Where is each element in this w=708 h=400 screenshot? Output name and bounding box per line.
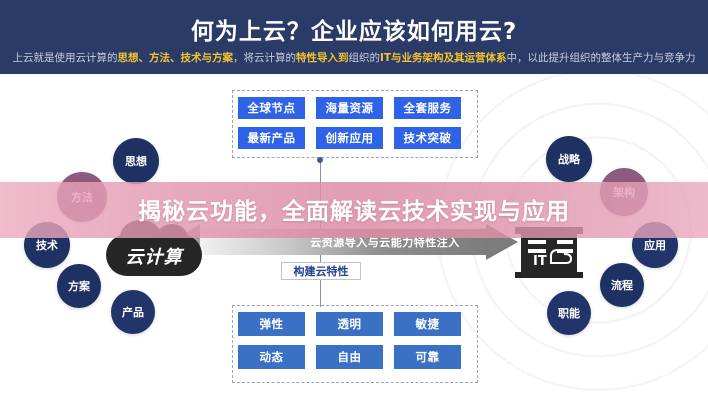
cloud-computing-label: 云计算	[112, 243, 196, 269]
characteristic-tile: 自由	[316, 345, 383, 369]
feature-tile: 全套服务	[394, 97, 461, 119]
subtitle-part-2: ，将云计算的	[233, 52, 296, 64]
overlay-caption: 揭秘云功能，全面解读云技术实现与应用	[0, 192, 708, 226]
it-label: IT	[533, 254, 547, 269]
it-slot-3	[528, 249, 546, 253]
characteristic-tile: 动态	[238, 345, 305, 369]
cloud-aspect-circle: 产品	[111, 290, 155, 334]
enterprise-aspect-circle: 战略	[546, 136, 592, 182]
watermark-circle-icon	[524, 365, 537, 378]
enterprise-aspect-circle: 职能	[547, 291, 591, 335]
subtitle-part-0: 上云就是使用云计算的	[12, 52, 117, 64]
connector-dot-top	[317, 157, 323, 163]
watermark-badge-icon	[508, 365, 521, 378]
it-slot-1	[528, 240, 546, 244]
it-cloud-icon	[545, 247, 573, 265]
header-banner: 何为上云？企业应该如何用云? 上云就是使用云计算的思想、方法、技术与方案，将云计…	[0, 0, 708, 74]
it-base	[515, 272, 583, 278]
feature-tile: 全球节点	[238, 97, 305, 119]
subtitle-part-3: 特性导入到	[296, 52, 349, 64]
enterprise-aspect-circle: 流程	[600, 263, 644, 307]
feature-tile: 创新应用	[316, 127, 383, 149]
subtitle-part-5: IT与业务架构及其运营体系	[380, 52, 507, 64]
page-subtitle: 上云就是使用云计算的思想、方法、技术与方案，将云计算的特性导入到组织的IT与业务…	[4, 52, 704, 65]
page-title: 何为上云？企业应该如何用云?	[0, 12, 708, 46]
subtitle-part-4: 组织的	[348, 52, 380, 64]
characteristic-tile: 弹性	[238, 312, 305, 336]
feature-tile: 海量资源	[316, 97, 383, 119]
it-slot-2	[557, 240, 573, 244]
cloud-aspect-circle: 方案	[57, 264, 101, 308]
screenshot-stage: 何为上云？企业应该如何用云? 上云就是使用云计算的思想、方法、技术与方案，将云计…	[0, 0, 708, 400]
watermark: 阳光山炉Michao	[508, 360, 670, 381]
subtitle-part-6: 中，以此提升组织的整体生产力与竞争力	[507, 52, 696, 64]
subtitle-part-1: 思想、方法、技术与方案	[117, 52, 233, 64]
feature-tile: 最新产品	[238, 127, 305, 149]
characteristic-tile: 敏捷	[394, 312, 461, 336]
center-label: 构建云特性	[281, 262, 361, 280]
watermark-text: 阳光山炉Michao	[540, 362, 670, 380]
characteristic-tile: 透明	[316, 312, 383, 336]
characteristic-tile: 可靠	[394, 345, 461, 369]
feature-tile: 技术突破	[394, 127, 461, 149]
cloud-aspect-circle: 思想	[113, 138, 159, 184]
